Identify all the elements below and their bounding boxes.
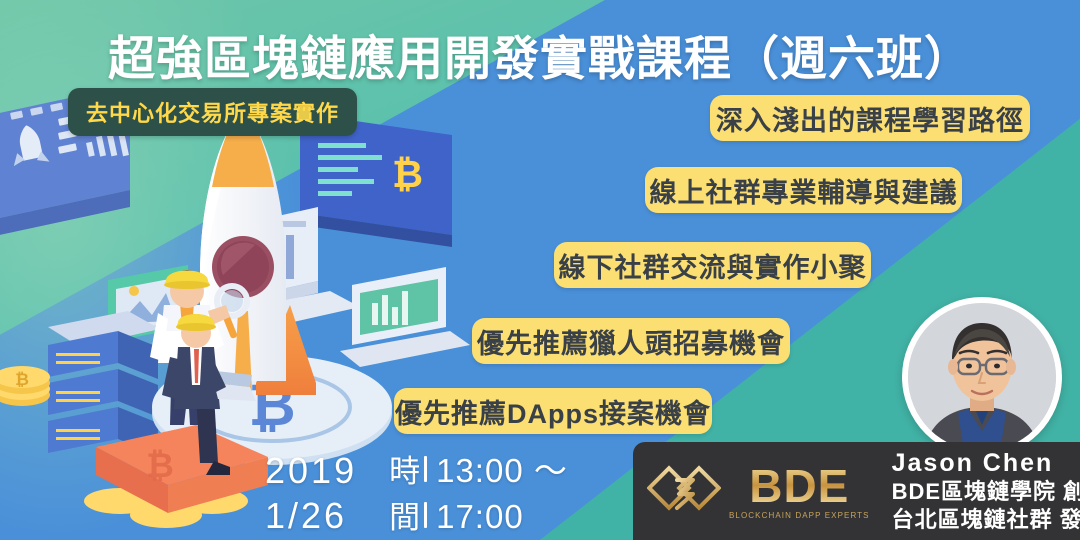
feature-pill-5: 優先推薦DApps接案機會 [394,388,712,434]
bde-logo: BDE BLOCKCHAIN DAPP EXPERTS [647,454,870,528]
speaker-name: Jason Chen [892,449,1080,478]
speaker-role-2: 台北區塊鏈社群 發起人 [892,506,1080,534]
bde-wordmark: BDE [749,463,849,509]
schedule-time-end-line: 間 17:00 [357,494,568,540]
feature-pill-3: 線下社群交流與實作小聚 [554,242,871,288]
schedule-divider-1 [424,456,427,482]
schedule-label-line2: 間 [389,495,421,540]
svg-text:₿: ₿ [146,446,174,486]
bde-wordmark-group: BDE BLOCKCHAIN DAPP EXPERTS [729,463,870,520]
feature-pill-1: 深入淺出的課程學習路徑 [710,95,1030,141]
bde-diamond-icon [647,454,721,528]
schedule-time-start-line: 時 13:00 ～ [357,448,568,494]
course-promo-banner: ₿ [0,0,1080,540]
bde-tagline: BLOCKCHAIN DAPP EXPERTS [729,511,870,520]
subtitle-badge: 去中心化交易所專案實作 [68,88,357,136]
schedule-time-column: 時 13:00 ～ 間 17:00 [357,448,568,540]
speaker-info-panel: BDE BLOCKCHAIN DAPP EXPERTS Jason Chen B… [633,442,1080,540]
speaker-details: Jason Chen BDE區塊鏈學院 創辦人 台北區塊鏈社群 發起人 [892,449,1080,534]
speaker-avatar [902,297,1062,457]
schedule-date: 1/26 [265,493,357,538]
schedule-date-column: 2019 1/26 [265,448,357,538]
svg-text:₿: ₿ [15,370,29,390]
page-title: 超強區塊鏈應用開發實戰課程（週六班） [0,20,1080,89]
feature-pill-2: 線上社群專業輔導與建議 [645,167,962,213]
schedule-label-line1: 時 [389,449,421,494]
schedule-time-end: 17:00 [436,494,524,539]
svg-text:₿: ₿ [392,152,423,196]
speaker-avatar-photo [908,303,1056,451]
schedule-time-start: 13:00 ～ [436,448,568,493]
speaker-role-1: BDE區塊鏈學院 創辦人 [892,478,1080,506]
schedule-block: 2019 1/26 時 13:00 ～ 間 17:00 [265,448,568,540]
schedule-year: 2019 [265,448,357,493]
schedule-divider-2 [424,502,427,528]
feature-pill-4: 優先推薦獵人頭招募機會 [472,318,790,364]
speaker-photo-svg [908,303,1056,451]
